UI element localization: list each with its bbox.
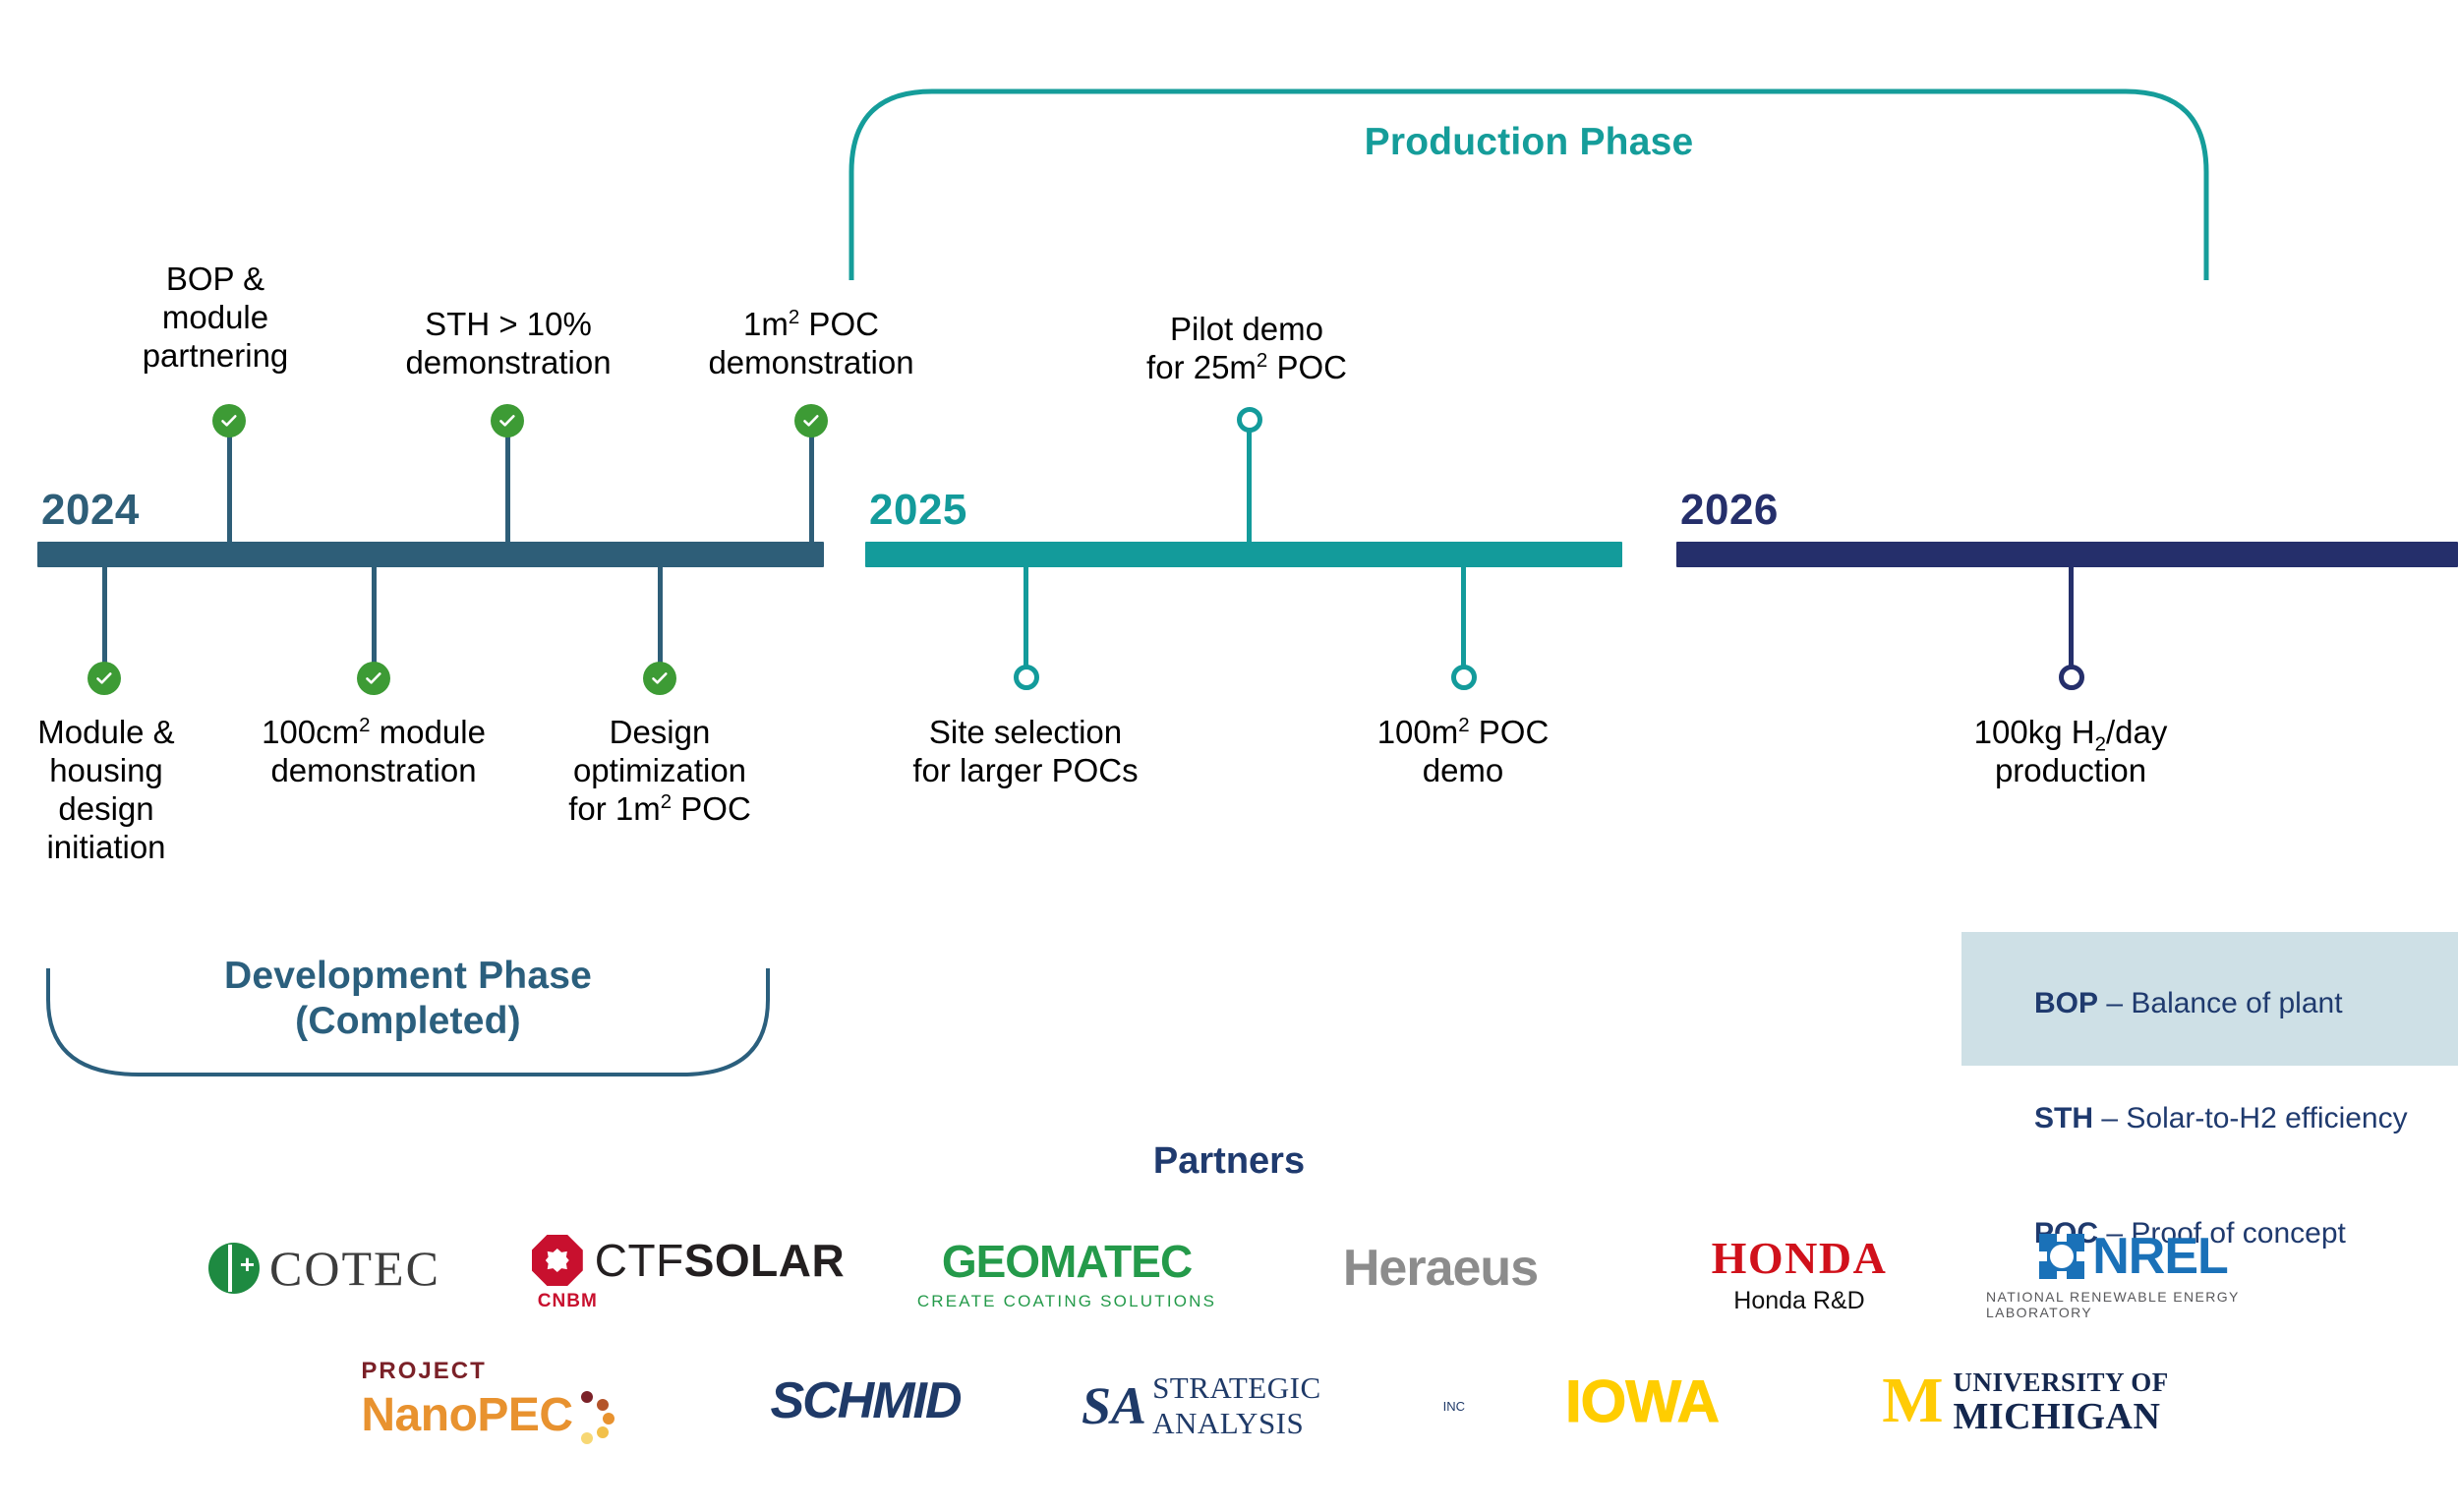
production-phase-label: Production Phase xyxy=(1150,120,1907,165)
ctf-wordmark-a: CTF xyxy=(595,1235,684,1286)
ctf-cnbm-sublabel: CNBM xyxy=(538,1291,598,1312)
milestone-caption-100cm2: 100cm2 module demonstration xyxy=(231,714,516,790)
legend-row-bop: BOP – Balance of plant xyxy=(1985,946,2436,1061)
legend-dash-sth: – xyxy=(2093,1102,2126,1134)
partner-logo-ctf-solar: CTFSOLAR CNBM xyxy=(531,1224,846,1322)
partner-logo-iowa: IOWA xyxy=(1514,1357,1770,1445)
milestone-caption-design-opt: Design optimization for 1m2 POC xyxy=(517,714,802,829)
strategic-analysis-wordmark: STRATEGIC ANALYSIS xyxy=(1152,1370,1443,1441)
partners-heading: Partners xyxy=(983,1140,1475,1183)
milestone-marker-check-100cm2 xyxy=(357,662,390,695)
michigan-line1: UNIVERSITY OF xyxy=(1954,1367,2169,1398)
milestone-marker-ring-pilot-demo xyxy=(1237,407,1262,433)
cotec-emblem-icon xyxy=(208,1243,260,1294)
milestone-marker-ring-100kg xyxy=(2059,665,2084,690)
partner-logo-schmid: SCHMID xyxy=(718,1357,1013,1445)
nanopec-wordmark: NanoPEC xyxy=(361,1388,572,1442)
milestone-caption-bop: BOP & module partnering xyxy=(73,261,358,376)
milestone-marker-check-sth xyxy=(491,404,524,437)
partner-logo-university-of-michigan: M UNIVERSITY OF MICHIGAN xyxy=(1829,1357,2222,1445)
milestone-marker-ring-site-selection xyxy=(1014,665,1039,690)
development-phase-line2: (Completed) xyxy=(295,1000,521,1042)
geomatec-wordmark: GEOMATEC xyxy=(942,1235,1192,1288)
year-bar-2024 xyxy=(37,542,824,567)
milestone-caption-site-selection: Site selection for larger POCs xyxy=(883,714,1168,790)
ctf-octagon-icon xyxy=(532,1235,583,1286)
stem-site-selection xyxy=(1024,555,1028,673)
strategic-analysis-monogram: SA xyxy=(1082,1375,1146,1436)
milestone-marker-check-module-housing xyxy=(88,662,121,695)
stem-design-optimization xyxy=(658,555,663,673)
legend-row-sth: STH – Solar-to-H2 efficiency xyxy=(1985,1061,2436,1176)
strategic-analysis-inc-sublabel: INC xyxy=(1443,1399,1465,1414)
milestone-marker-check-1m2poc xyxy=(794,404,828,437)
legend-abbr-bop: BOP xyxy=(2034,987,2098,1019)
geomatec-tagline: CREATE COATING SOLUTIONS xyxy=(917,1292,1216,1311)
partner-logo-honda: HONDA Honda R&D xyxy=(1652,1224,1947,1322)
iowa-wordmark: IOWA xyxy=(1565,1367,1719,1435)
timeline-diagram: Production Phase 2024 BOP & module partn… xyxy=(0,0,2458,1512)
cotec-wordmark: COTEC xyxy=(269,1240,440,1297)
michigan-line2: MICHIGAN xyxy=(1954,1398,2161,1435)
partner-logo-nanopec: PROJECT NanoPEC xyxy=(344,1352,639,1450)
legend-abbr-sth: STH xyxy=(2034,1102,2093,1134)
year-label-2025: 2025 xyxy=(869,486,967,535)
milestone-caption-100kg: 100kg H2/day production xyxy=(1928,714,2213,790)
legend-meaning-bop: Balance of plant xyxy=(2131,987,2342,1019)
schmid-wordmark: SCHMID xyxy=(770,1371,960,1430)
partner-logo-geomatec: GEOMATEC CREATE COATING SOLUTIONS xyxy=(914,1224,1219,1322)
nrel-tagline: NATIONAL RENEWABLE ENERGY LABORATORY xyxy=(1986,1289,2281,1320)
production-phase-bracket xyxy=(846,84,2212,280)
stem-100kg-h2-day xyxy=(2069,555,2074,673)
nrel-emblem-icon xyxy=(2039,1234,2084,1279)
honda-rd-sublabel: Honda R&D xyxy=(1733,1287,1864,1315)
legend-meaning-sth: Solar-to-H2 efficiency xyxy=(2126,1102,2407,1134)
heraeus-wordmark: Heraeus xyxy=(1343,1239,1538,1298)
stem-100m2-poc-demo xyxy=(1461,555,1466,673)
partner-logo-nrel: NREL NATIONAL RENEWABLE ENERGY LABORATOR… xyxy=(1986,1224,2281,1322)
milestone-caption-sth: STH > 10% demonstration xyxy=(366,306,651,382)
stem-sth-demonstration xyxy=(505,430,510,548)
partner-logo-strategic-analysis: SA STRATEGIC ANALYSISINC xyxy=(1082,1362,1465,1450)
michigan-block-m-icon: M xyxy=(1882,1373,1943,1428)
legend-dash-bop: – xyxy=(2098,987,2131,1019)
nrel-wordmark: NREL xyxy=(2092,1227,2228,1286)
year-bar-2026 xyxy=(1676,542,2458,567)
milestone-marker-check-design-opt xyxy=(643,662,676,695)
nanopec-dots-icon xyxy=(573,1385,622,1444)
partner-logo-cotec: COTEC xyxy=(177,1224,472,1312)
milestone-marker-check-bop xyxy=(212,404,246,437)
year-label-2024: 2024 xyxy=(41,486,140,535)
honda-wordmark: HONDA xyxy=(1712,1232,1888,1284)
abbreviation-legend: BOP – Balance of plant STH – Solar-to-H2… xyxy=(1961,932,2458,1066)
stem-module-housing-design xyxy=(102,555,107,673)
year-label-2026: 2026 xyxy=(1680,486,1779,535)
partner-logo-heraeus: Heraeus xyxy=(1298,1224,1583,1312)
stem-pilot-demo xyxy=(1247,425,1252,548)
development-phase-label: Development Phase (Completed) xyxy=(59,954,757,1044)
nanopec-project-label: PROJECT xyxy=(361,1358,486,1385)
milestone-caption-pilot-demo: Pilot demo for 25m2 POC xyxy=(1104,311,1389,387)
year-bar-2025 xyxy=(865,542,1622,567)
milestone-caption-module-housing: Module & housing design initiation xyxy=(0,714,249,867)
milestone-caption-100m2: 100m2 POC demo xyxy=(1320,714,1606,790)
milestone-marker-ring-100m2 xyxy=(1451,665,1477,690)
ctf-wordmark-b: SOLAR xyxy=(684,1235,846,1286)
stem-bop-module-partnering xyxy=(227,430,232,548)
stem-100cm2-module-demo xyxy=(372,555,377,673)
development-phase-line1: Development Phase xyxy=(224,955,592,997)
stem-1m2-poc-demonstration xyxy=(809,430,814,548)
milestone-caption-1m2poc: 1m2 POC demonstration xyxy=(669,306,954,382)
